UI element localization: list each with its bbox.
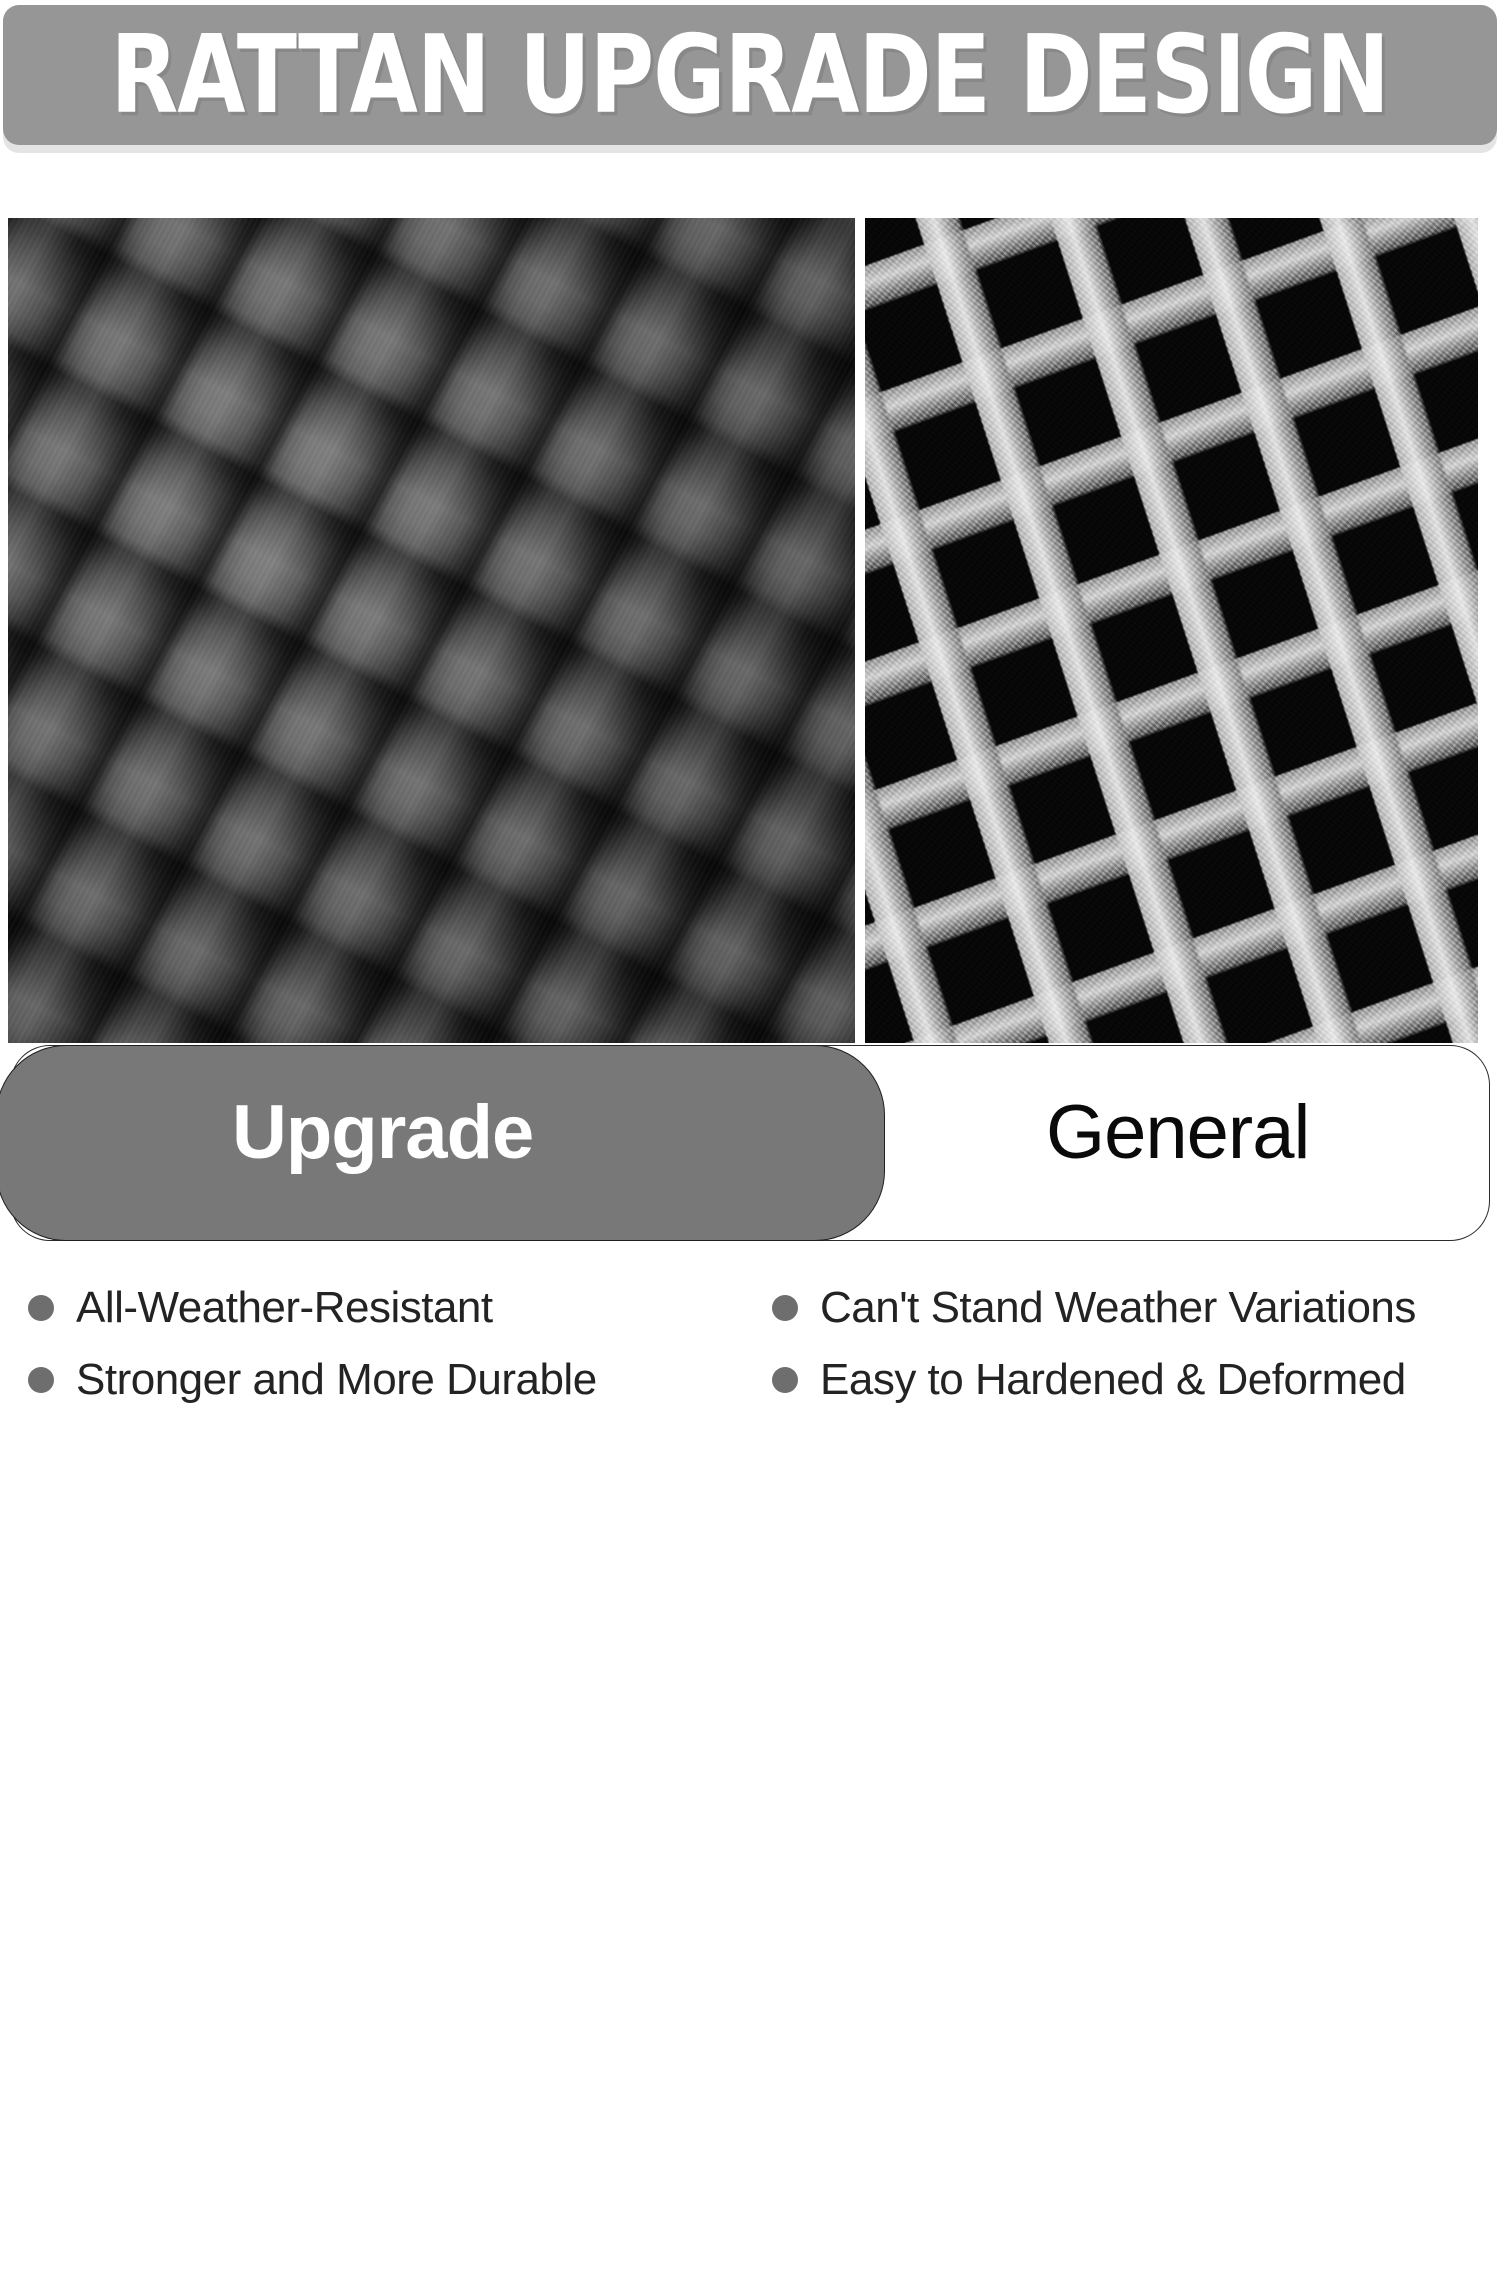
list-item-label: All-Weather-Resistant — [76, 1286, 493, 1330]
dark-synthetic-rattan-texture — [8, 218, 855, 1043]
natural-rattan-grid-texture — [865, 218, 1478, 1043]
upgrade-label: Upgrade — [232, 1095, 533, 1171]
feature-bullets: All-Weather-Resistant Stronger and More … — [0, 1272, 1500, 1421]
bullet-dot-icon — [28, 1367, 54, 1393]
list-item-label: Stronger and More Durable — [76, 1358, 597, 1402]
list-item: Can't Stand Weather Variations — [772, 1272, 1492, 1344]
bullet-dot-icon — [28, 1295, 54, 1321]
list-item: Stronger and More Durable — [28, 1344, 748, 1416]
upgrade-bullet-list: All-Weather-Resistant Stronger and More … — [28, 1272, 748, 1416]
upgrade-rattan-photo — [8, 218, 855, 1043]
page-title: RATTAN UPGRADE DESIGN — [111, 21, 1389, 129]
list-item: All-Weather-Resistant — [28, 1272, 748, 1344]
header-banner: RATTAN UPGRADE DESIGN — [3, 5, 1497, 145]
list-item-label: Easy to Hardened & Deformed — [820, 1358, 1406, 1402]
list-item-label: Can't Stand Weather Variations — [820, 1286, 1416, 1330]
bullet-dot-icon — [772, 1295, 798, 1321]
compare-bar: Upgrade General — [0, 1043, 1500, 1248]
general-rattan-photo — [865, 218, 1478, 1043]
general-bullet-list: Can't Stand Weather Variations Easy to H… — [772, 1272, 1492, 1416]
bullet-dot-icon — [772, 1367, 798, 1393]
list-item: Easy to Hardened & Deformed — [772, 1344, 1492, 1416]
vs-brush-icon — [686, 2095, 818, 2285]
comparison-photo-row — [8, 218, 1478, 1043]
general-label: General — [1046, 1095, 1309, 1171]
